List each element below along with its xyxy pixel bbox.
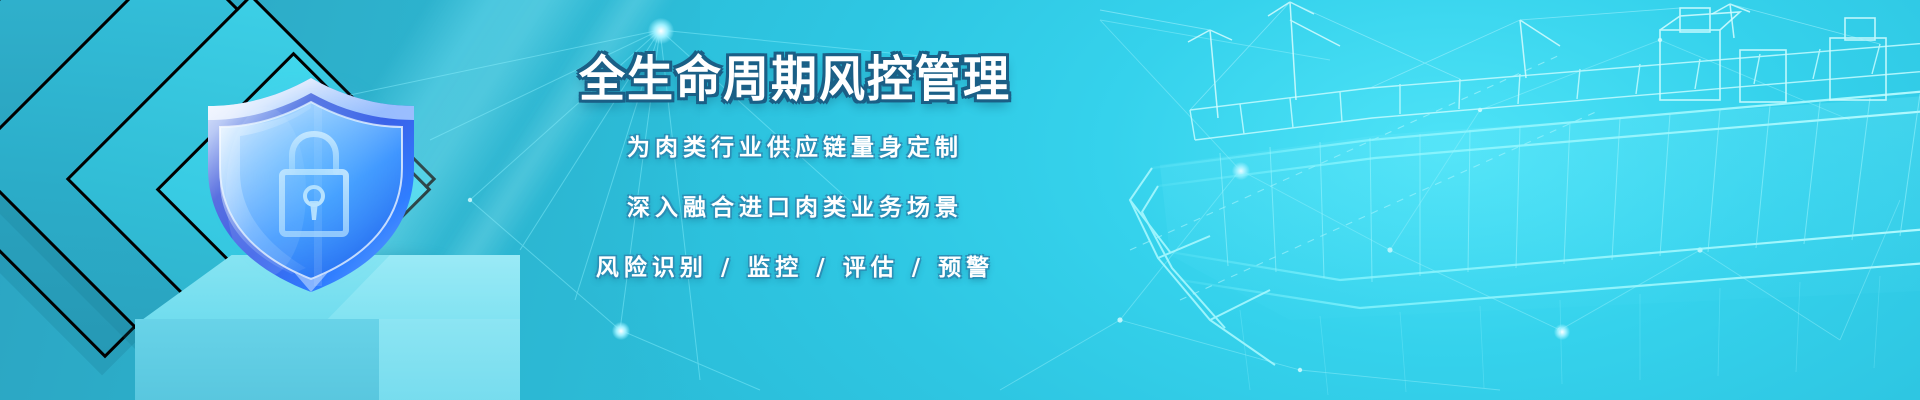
promo-banner: 全生命周期风控管理 为肉类行业供应链量身定制 深入融合进口肉类业务场景 风险识别… xyxy=(0,0,1920,400)
shield-glow xyxy=(206,82,416,292)
shield-graphic xyxy=(196,72,426,297)
banner-text-block: 全生命周期风控管理 为肉类行业供应链量身定制 深入融合进口肉类业务场景 风险识别… xyxy=(560,56,1030,282)
subtitle-line-2: 深入融合进口肉类业务场景 xyxy=(627,188,963,222)
subtitle-line-3: 风险识别 / 监控 / 评估 / 预警 xyxy=(596,248,994,282)
pedestal-side-face xyxy=(379,319,520,400)
subtitle-line-1: 为肉类行业供应链量身定制 xyxy=(627,128,963,162)
pedestal-front-face xyxy=(135,319,380,400)
page-title: 全生命周期风控管理 xyxy=(579,55,1011,104)
wireframe-cargo-ship xyxy=(1040,0,1920,400)
